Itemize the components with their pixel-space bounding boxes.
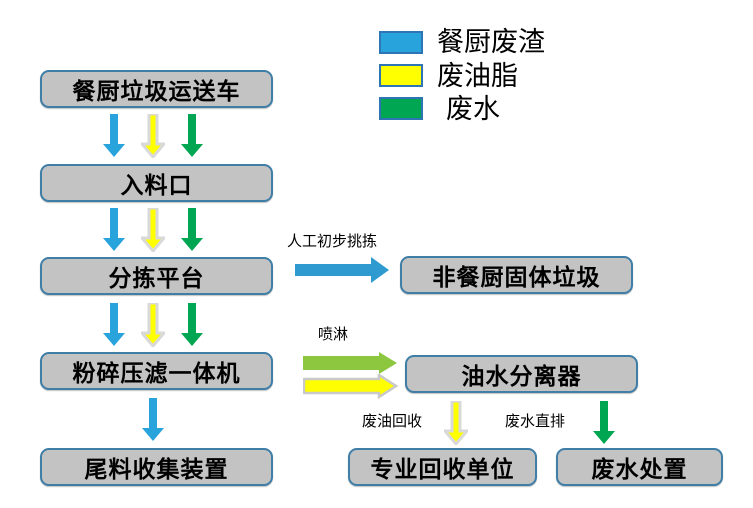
arrow-down-blue-icon [102,208,126,252]
legend-swatch-green [379,97,423,120]
arrow-down-green-icon [180,303,204,347]
node-recycling-unit[interactable]: 专业回收单位 [348,448,537,486]
arrow-down-blue-icon [102,303,126,347]
node-wastewater-treatment[interactable]: 废水处置 [556,448,723,486]
node-non-kitchen-solid-waste[interactable]: 非餐厨固体垃圾 [400,256,633,294]
arrow-down-yellow-icon [141,114,165,158]
label-manual-sorting: 人工初步挑拣 [287,230,377,251]
node-residue-collector[interactable]: 尾料收集装置 [40,448,273,486]
node-crusher-press[interactable]: 粉碎压滤一体机 [40,352,273,390]
node-sorting-platform[interactable]: 分拣平台 [40,257,273,295]
arrow-down-green-icon [592,401,616,445]
label-waste-oil-recovery: 废油回收 [362,410,422,431]
arrow-down-yellow-icon [141,303,165,347]
legend-swatch-yellow [379,64,423,87]
node-transport-vehicle[interactable]: 餐厨垃圾运送车 [40,70,273,108]
arrow-down-yellow-icon [444,401,468,445]
flowchart-canvas: 餐厨废渣 废油脂 废水 餐厨垃圾运送车 入料口 分拣平台 粉碎压滤一体机 尾料收… [0,0,753,508]
label-wastewater-direct-discharge: 废水直排 [505,410,565,431]
arrow-down-green-icon [180,208,204,252]
arrow-down-yellow-icon [141,208,165,252]
node-oil-water-separator[interactable]: 油水分离器 [405,355,638,393]
legend-label-yellow: 废油脂 [437,62,518,92]
legend-label-green: 废水 [446,95,500,125]
arrow-down-blue-icon [141,398,165,442]
node-feed-inlet[interactable]: 入料口 [40,164,273,202]
arrow-right-yellow-icon [303,374,398,400]
arrow-right-olive-icon [303,352,398,376]
legend-swatch-blue [379,31,423,54]
legend-label-blue: 餐厨废渣 [437,28,545,58]
label-spray: 喷淋 [318,323,348,344]
arrow-down-blue-icon [102,114,126,158]
arrow-right-blue-icon [295,256,390,286]
arrow-down-green-icon [180,114,204,158]
